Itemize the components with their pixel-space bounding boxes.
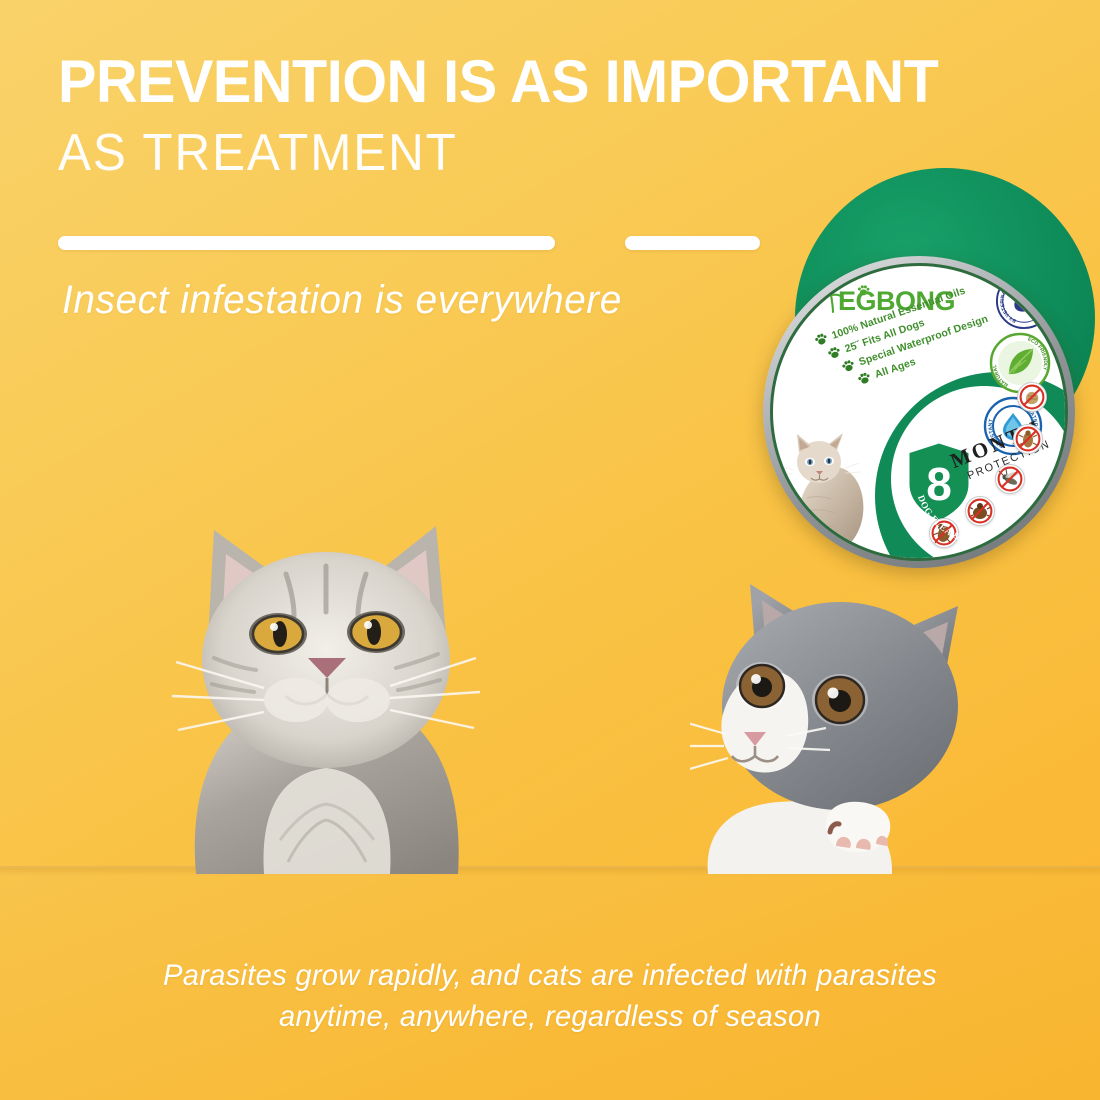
divider-bar-long (58, 236, 555, 250)
pest-icon-tick (965, 496, 995, 526)
divider-bar-short (625, 236, 760, 250)
paw-bullet-icon (813, 331, 830, 348)
poster-canvas: PREVENTION IS AS IMPORTANT AS TREATMENT … (0, 0, 1100, 1100)
caption-line-2: anytime, anywhere, regardless of season (17, 996, 1084, 1037)
paw-bullet-icon (856, 370, 873, 387)
headline-block: PREVENTION IS AS IMPORTANT AS TREATMENT (58, 52, 1058, 181)
pest-icon-mosquito (995, 464, 1025, 494)
cat-photo-right (690, 556, 990, 874)
label-cat-photo (779, 426, 883, 556)
pest-icon-lice (1013, 424, 1043, 454)
product-badge[interactable]: EGBONG (795, 168, 1100, 546)
caption-line-1: Parasites grow rapidly, and cats are inf… (17, 955, 1084, 996)
paw-logo-icon (857, 284, 870, 297)
product-tin[interactable]: EGBONG (763, 256, 1075, 568)
bottom-caption: Parasites grow rapidly, and cats are inf… (0, 955, 1100, 1038)
pest-icon-flea (929, 518, 959, 548)
divider-group (58, 236, 778, 250)
pest-protection-ring (911, 402, 1061, 552)
tin-label: EGBONG (770, 263, 1068, 561)
headline-line-1: PREVENTION IS AS IMPORTANT (58, 52, 1018, 112)
paw-bullet-icon (826, 345, 843, 362)
cat-photo-left (168, 462, 484, 874)
paw-bullet-icon (840, 358, 857, 375)
recommended-by-veterinarians-icon: RECOMMENDED BY VETERINARIANS (995, 272, 1053, 330)
pest-icon-larvae (1017, 382, 1047, 412)
subtitle-text: Insect infestation is everywhere (62, 278, 622, 323)
